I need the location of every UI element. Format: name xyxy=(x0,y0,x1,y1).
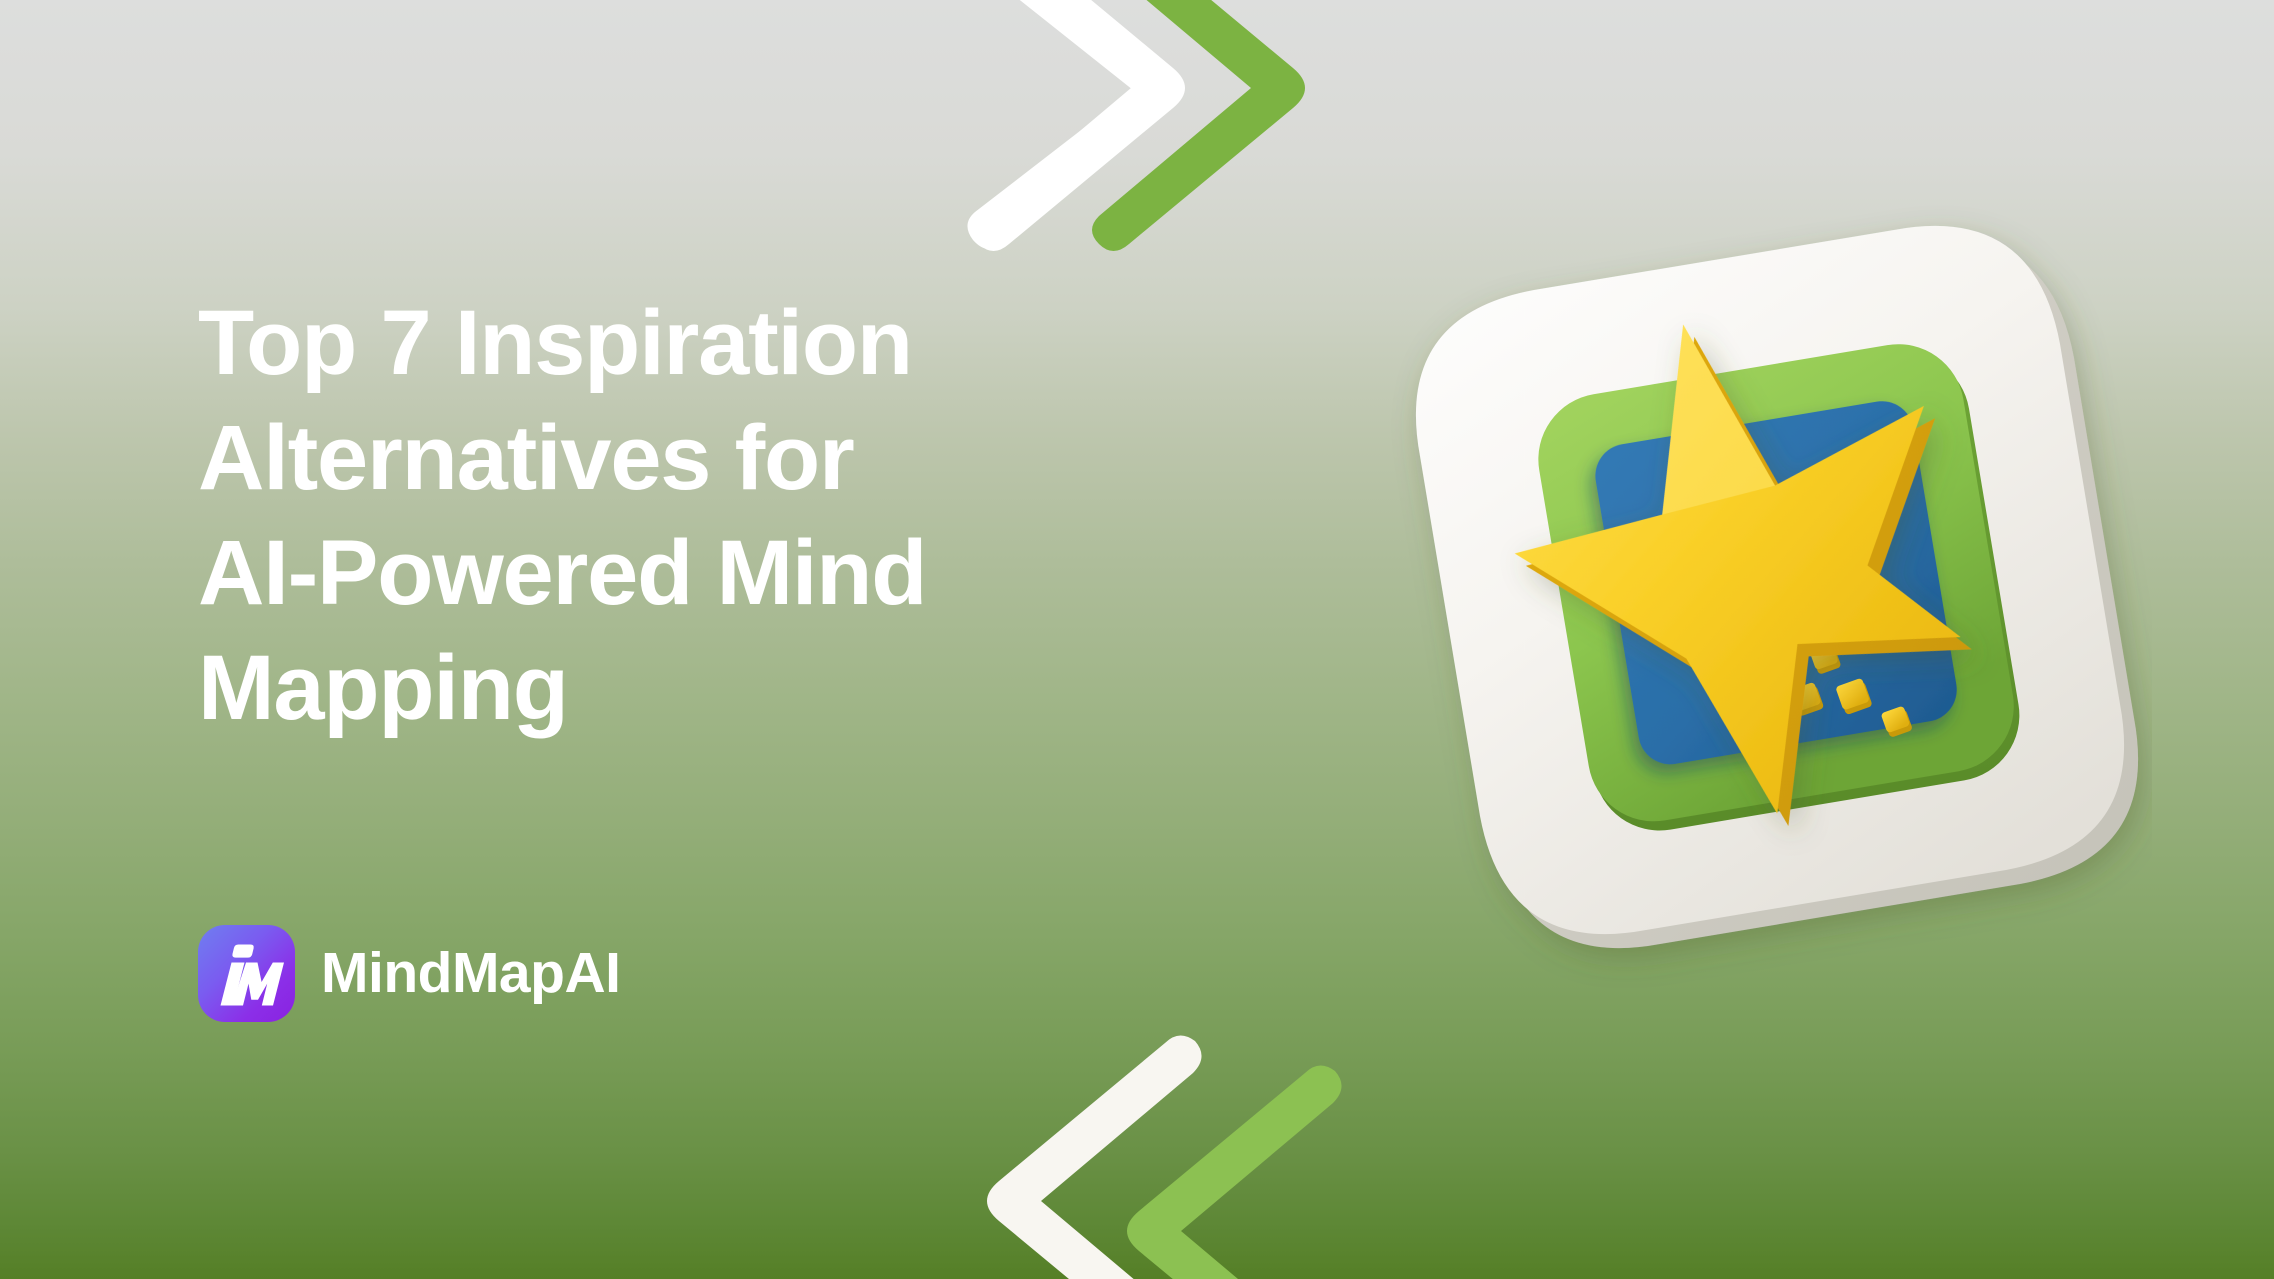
page-title-line-1: Top 7 Inspiration xyxy=(198,286,1098,401)
page-title-line-4: Mapping xyxy=(198,631,1098,746)
brand-lockup[interactable]: MindMapAI xyxy=(198,925,620,1022)
magic-wand-star-card-3d-illustration xyxy=(1312,200,2152,1000)
banner-canvas: Top 7 Inspiration Alternatives for AI-Po… xyxy=(0,0,2274,1279)
page-title-line-2: Alternatives for xyxy=(198,401,1098,516)
page-title: Top 7 Inspiration Alternatives for AI-Po… xyxy=(198,286,1098,746)
chevron-left-green-icon xyxy=(1105,1065,1365,1279)
brand-name: MindMapAI xyxy=(321,945,620,1002)
chevron-right-green-icon xyxy=(1075,0,1335,252)
page-title-line-3: AI-Powered Mind xyxy=(198,516,1098,631)
mindmapai-logo-icon xyxy=(198,925,295,1022)
chevron-right-white-icon xyxy=(955,0,1215,252)
chevron-left-white-icon xyxy=(965,1035,1225,1279)
